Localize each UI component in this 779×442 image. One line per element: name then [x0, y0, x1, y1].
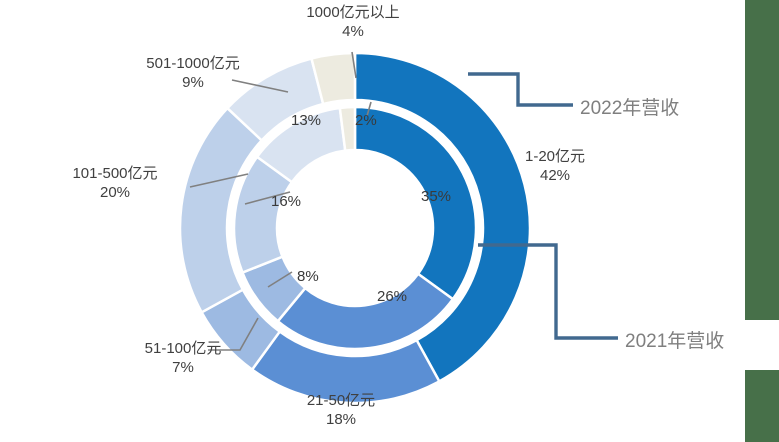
callout-label-2021: 2021年营收 [625, 326, 724, 353]
label-1-20: 1-20亿元 42% [470, 148, 640, 186]
label-501-1000: 501-1000亿元 9% [108, 55, 278, 93]
inner-label-8: 8% [297, 268, 319, 285]
label-21-50: 21-50亿元 18% [256, 392, 426, 430]
label-1000plus-category: 1000亿元以上 [268, 4, 438, 23]
inner-ring-2021 [234, 107, 476, 349]
label-21-50-category: 21-50亿元 [256, 392, 426, 411]
label-101-500: 101-500亿元 20% [30, 165, 200, 203]
label-1000plus: 1000亿元以上 4% [268, 4, 438, 42]
label-501-1000-value: 9% [108, 74, 278, 93]
label-101-500-value: 20% [30, 184, 200, 203]
inner-label-16: 16% [271, 193, 301, 210]
inner-label-35: 35% [421, 188, 451, 205]
label-101-500-category: 101-500亿元 [30, 165, 200, 184]
label-501-1000-category: 501-1000亿元 [108, 55, 278, 74]
label-51-100-value: 7% [98, 359, 268, 378]
inner-label-2: 2% [355, 112, 377, 129]
chart-canvas: 1000亿元以上 4% 501-1000亿元 9% 101-500亿元 20% … [0, 0, 779, 442]
inner-label-26: 26% [377, 288, 407, 305]
callout-label-2022: 2022年营收 [580, 93, 679, 120]
label-1000plus-value: 4% [268, 23, 438, 42]
callout-connector-2022 [468, 74, 573, 105]
label-1-20-category: 1-20亿元 [470, 148, 640, 167]
label-51-100: 51-100亿元 7% [98, 340, 268, 378]
inner-label-13: 13% [291, 112, 321, 129]
label-1-20-value: 42% [470, 167, 640, 186]
label-51-100-category: 51-100亿元 [98, 340, 268, 359]
label-21-50-value: 18% [256, 411, 426, 430]
